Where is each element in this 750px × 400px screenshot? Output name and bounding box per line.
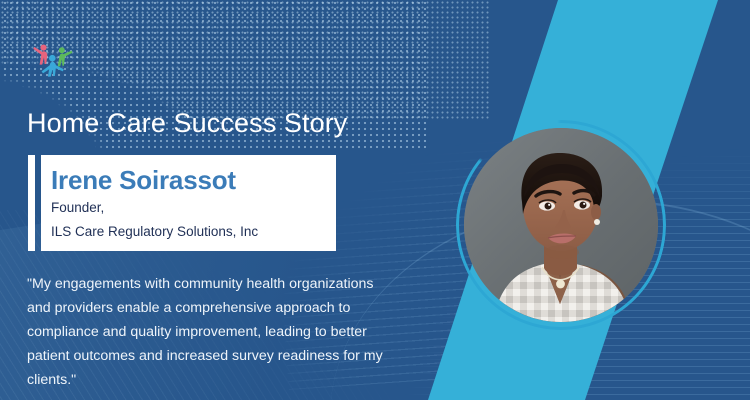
profile-role: Founder, bbox=[51, 197, 336, 218]
profile-card: Irene Soirassot Founder, ILS Care Regula… bbox=[41, 155, 336, 251]
portrait-illustration-icon bbox=[464, 128, 658, 322]
profile-name: Irene Soirassot bbox=[51, 165, 336, 195]
avatar bbox=[464, 128, 658, 322]
success-story-card: Home Care Success Story Irene Soirassot … bbox=[0, 0, 750, 400]
profile-company: ILS Care Regulatory Solutions, Inc bbox=[51, 221, 336, 242]
page-title: Home Care Success Story bbox=[27, 108, 347, 139]
testimonial-quote: "My engagements with community health or… bbox=[27, 272, 397, 392]
three-people-logo-icon bbox=[30, 42, 76, 80]
card-accent-bar bbox=[28, 155, 35, 251]
avatar-photo bbox=[464, 128, 658, 322]
